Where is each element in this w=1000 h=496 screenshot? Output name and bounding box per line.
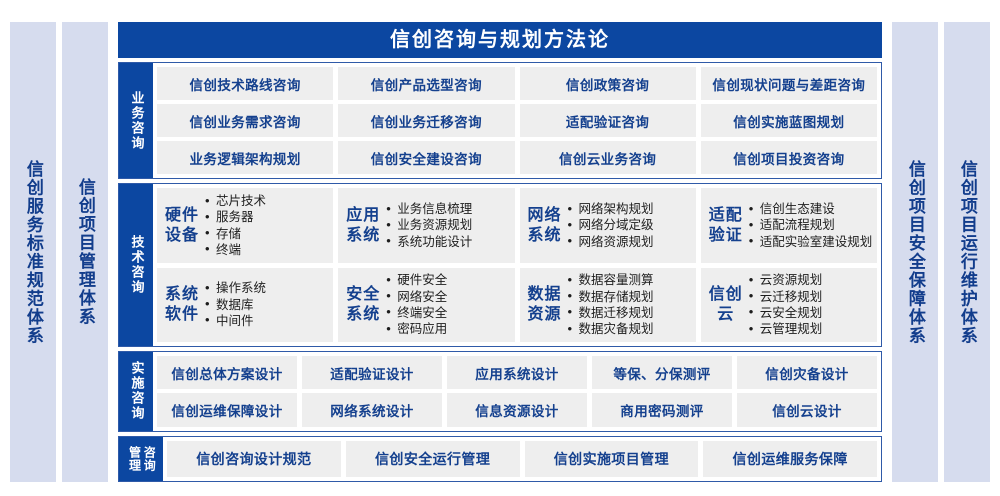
list-item[interactable]: 适配验证设计 [302, 356, 442, 389]
list-item[interactable]: 业务逻辑架构规划 [157, 141, 333, 174]
band-body-business: 信创技术路线咨询 信创产品选型咨询 信创政策咨询 信创现状问题与差距咨询 信创业… [153, 63, 881, 178]
list-item[interactable]: 信创安全建设咨询 [338, 141, 514, 174]
band-label-text: 技术咨询 [129, 235, 144, 295]
list-item[interactable]: 信创云设计 [737, 393, 877, 426]
list-item: 密码应用 [386, 321, 510, 337]
list-item: 云管理规划 [749, 321, 873, 337]
list-item[interactable]: 信创实施项目管理 [525, 441, 699, 477]
list-item[interactable]: 信创运维保障设计 [157, 393, 297, 426]
list-item: 云资源规划 [749, 272, 873, 288]
list-item[interactable]: 信创云业务咨询 [520, 141, 696, 174]
tech-card-title: 安全 系统 [346, 285, 380, 324]
tech-card-network[interactable]: 网络 系统 网络架构规划 网络分域定级 网络资源规划 [520, 188, 696, 262]
band-label-text-col2: 管理 [127, 446, 141, 472]
list-item: 系统功能设计 [386, 234, 510, 250]
tech-card-list: 业务信息梳理 业务资源规划 系统功能设计 [386, 201, 510, 250]
list-item: 存储 [205, 226, 329, 242]
diagram-title: 信创咨询与规划方法论 [118, 22, 882, 58]
list-item: 数据容量测算 [568, 272, 692, 288]
band-consulting-management: 咨询 管理 信创咨询设计规范 信创安全运行管理 信创实施项目管理 信创运维服务保… [118, 436, 882, 482]
band-body-management: 信创咨询设计规范 信创安全运行管理 信创实施项目管理 信创运维服务保障 [163, 437, 881, 481]
list-item: 网络分域定级 [568, 217, 692, 233]
tech-card-list: 云资源规划 云迁移规划 云安全规划 云管理规划 [749, 272, 873, 337]
list-item: 适配实验室建设规划 [749, 234, 873, 250]
list-item: 云迁移规划 [749, 289, 873, 305]
table-row: 系统 软件 操作系统 数据库 中间件 安全 系统 硬件安全 网络安全 终端安全 [157, 268, 877, 342]
band-label-text-col1: 咨询 [142, 446, 156, 472]
tech-card-list: 芯片技术 服务器 存储 终端 [205, 193, 329, 258]
list-item[interactable]: 信创运维服务保障 [703, 441, 877, 477]
tech-card-title: 系统 软件 [165, 285, 199, 324]
tech-card-application[interactable]: 应用 系统 业务信息梳理 业务资源规划 系统功能设计 [338, 188, 514, 262]
table-row: 信创业务需求咨询 信创业务迁移咨询 适配验证咨询 信创实施蓝图规划 [157, 104, 877, 137]
list-item: 网络安全 [386, 289, 510, 305]
center-stack: 信创咨询与规划方法论 业务咨询 信创技术路线咨询 信创产品选型咨询 信创政策咨询… [118, 22, 882, 482]
tech-card-security[interactable]: 安全 系统 硬件安全 网络安全 终端安全 密码应用 [338, 268, 514, 342]
pillar-label: 信创项目安全保障体系 [904, 160, 926, 345]
list-item: 操作系统 [205, 280, 329, 296]
tech-card-title: 信创 云 [709, 285, 743, 324]
pillar-service-standard: 信创服务标准规范体系 [10, 22, 56, 482]
tech-card-data-resource[interactable]: 数据 资源 数据容量测算 数据存储规划 数据迁移规划 数据灾备规划 [520, 268, 696, 342]
tech-card-hardware[interactable]: 硬件 设备 芯片技术 服务器 存储 终端 [157, 188, 333, 262]
list-item[interactable]: 信创产品选型咨询 [338, 67, 514, 100]
tech-card-list: 网络架构规划 网络分域定级 网络资源规划 [568, 201, 692, 250]
table-row: 信创运维保障设计 网络系统设计 信息资源设计 商用密码测评 信创云设计 [157, 393, 877, 426]
band-label-management: 咨询 管理 [119, 437, 163, 481]
tech-card-title: 网络 系统 [528, 206, 562, 245]
list-item[interactable]: 商用密码测评 [592, 393, 732, 426]
tech-card-title: 硬件 设备 [165, 206, 199, 245]
list-item[interactable]: 信创业务迁移咨询 [338, 104, 514, 137]
list-item: 硬件安全 [386, 272, 510, 288]
list-item: 服务器 [205, 209, 329, 225]
band-label-business: 业务咨询 [119, 63, 153, 178]
table-row: 硬件 设备 芯片技术 服务器 存储 终端 应用 系统 业务信息梳理 业务资源规划 [157, 188, 877, 262]
list-item: 网络资源规划 [568, 234, 692, 250]
list-item: 芯片技术 [205, 193, 329, 209]
band-implementation-consulting: 实施咨询 信创总体方案设计 适配验证设计 应用系统设计 等保、分保测评 信创灾备… [118, 351, 882, 432]
tech-card-adaptation[interactable]: 适配 验证 信创生态建设 适配流程规划 适配实验室建设规划 [701, 188, 877, 262]
tech-card-list: 操作系统 数据库 中间件 [205, 280, 329, 329]
list-item[interactable]: 应用系统设计 [447, 356, 587, 389]
band-label-columns: 咨询 管理 [127, 446, 156, 472]
pillar-project-security: 信创项目安全保障体系 [892, 22, 938, 482]
pillar-project-management: 信创项目管理体系 [62, 22, 108, 482]
tech-card-list: 信创生态建设 适配流程规划 适配实验室建设规划 [749, 201, 873, 250]
list-item: 数据库 [205, 297, 329, 313]
list-item: 中间件 [205, 313, 329, 329]
tech-card-title: 适配 验证 [709, 206, 743, 245]
tech-card-title: 数据 资源 [528, 285, 562, 324]
list-item[interactable]: 网络系统设计 [302, 393, 442, 426]
table-row: 业务逻辑架构规划 信创安全建设咨询 信创云业务咨询 信创项目投资咨询 [157, 141, 877, 174]
band-label-implementation: 实施咨询 [119, 352, 153, 431]
pillar-label: 信创服务标准规范体系 [22, 160, 44, 345]
band-label-text: 实施咨询 [129, 361, 144, 421]
list-item: 适配流程规划 [749, 217, 873, 233]
pillar-label: 信创项目运行维护体系 [956, 160, 978, 345]
list-item[interactable]: 信创现状问题与差距咨询 [701, 67, 877, 100]
band-business-consulting: 业务咨询 信创技术路线咨询 信创产品选型咨询 信创政策咨询 信创现状问题与差距咨… [118, 62, 882, 179]
tech-card-list: 数据容量测算 数据存储规划 数据迁移规划 数据灾备规划 [568, 272, 692, 337]
list-item: 数据灾备规划 [568, 321, 692, 337]
list-item[interactable]: 信息资源设计 [447, 393, 587, 426]
diagram-root: 信创服务标准规范体系 信创项目管理体系 信创咨询与规划方法论 业务咨询 信创技术… [0, 0, 1000, 496]
list-item: 数据存储规划 [568, 289, 692, 305]
list-item: 信创生态建设 [749, 201, 873, 217]
tech-card-system-software[interactable]: 系统 软件 操作系统 数据库 中间件 [157, 268, 333, 342]
list-item[interactable]: 适配验证咨询 [520, 104, 696, 137]
tech-card-title: 应用 系统 [346, 206, 380, 245]
list-item: 业务信息梳理 [386, 201, 510, 217]
list-item: 终端安全 [386, 305, 510, 321]
list-item[interactable]: 信创项目投资咨询 [701, 141, 877, 174]
list-item: 网络架构规划 [568, 201, 692, 217]
table-row: 信创咨询设计规范 信创安全运行管理 信创实施项目管理 信创运维服务保障 [167, 441, 877, 477]
list-item[interactable]: 信创咨询设计规范 [167, 441, 341, 477]
band-label-text: 业务咨询 [129, 91, 144, 151]
list-item[interactable]: 等保、分保测评 [592, 356, 732, 389]
list-item: 数据迁移规划 [568, 305, 692, 321]
list-item[interactable]: 信创安全运行管理 [346, 441, 520, 477]
band-label-technical: 技术咨询 [119, 184, 153, 346]
tech-card-cloud[interactable]: 信创 云 云资源规划 云迁移规划 云安全规划 云管理规划 [701, 268, 877, 342]
list-item[interactable]: 信创总体方案设计 [157, 356, 297, 389]
table-row: 信创总体方案设计 适配验证设计 应用系统设计 等保、分保测评 信创灾备设计 [157, 356, 877, 389]
list-item[interactable]: 信创实施蓝图规划 [701, 104, 877, 137]
list-item[interactable]: 信创技术路线咨询 [157, 67, 333, 100]
tech-card-list: 硬件安全 网络安全 终端安全 密码应用 [386, 272, 510, 337]
band-body-technical: 硬件 设备 芯片技术 服务器 存储 终端 应用 系统 业务信息梳理 业务资源规划 [153, 184, 881, 346]
list-item: 业务资源规划 [386, 217, 510, 233]
list-item[interactable]: 信创政策咨询 [520, 67, 696, 100]
list-item: 终端 [205, 242, 329, 258]
list-item[interactable]: 信创业务需求咨询 [157, 104, 333, 137]
band-technical-consulting: 技术咨询 硬件 设备 芯片技术 服务器 存储 终端 应用 系统 [118, 183, 882, 347]
band-body-implementation: 信创总体方案设计 适配验证设计 应用系统设计 等保、分保测评 信创灾备设计 信创… [153, 352, 881, 431]
list-item[interactable]: 信创灾备设计 [737, 356, 877, 389]
table-row: 信创技术路线咨询 信创产品选型咨询 信创政策咨询 信创现状问题与差距咨询 [157, 67, 877, 100]
list-item: 云安全规划 [749, 305, 873, 321]
pillar-label: 信创项目管理体系 [74, 178, 96, 326]
pillar-project-operations: 信创项目运行维护体系 [944, 22, 990, 482]
